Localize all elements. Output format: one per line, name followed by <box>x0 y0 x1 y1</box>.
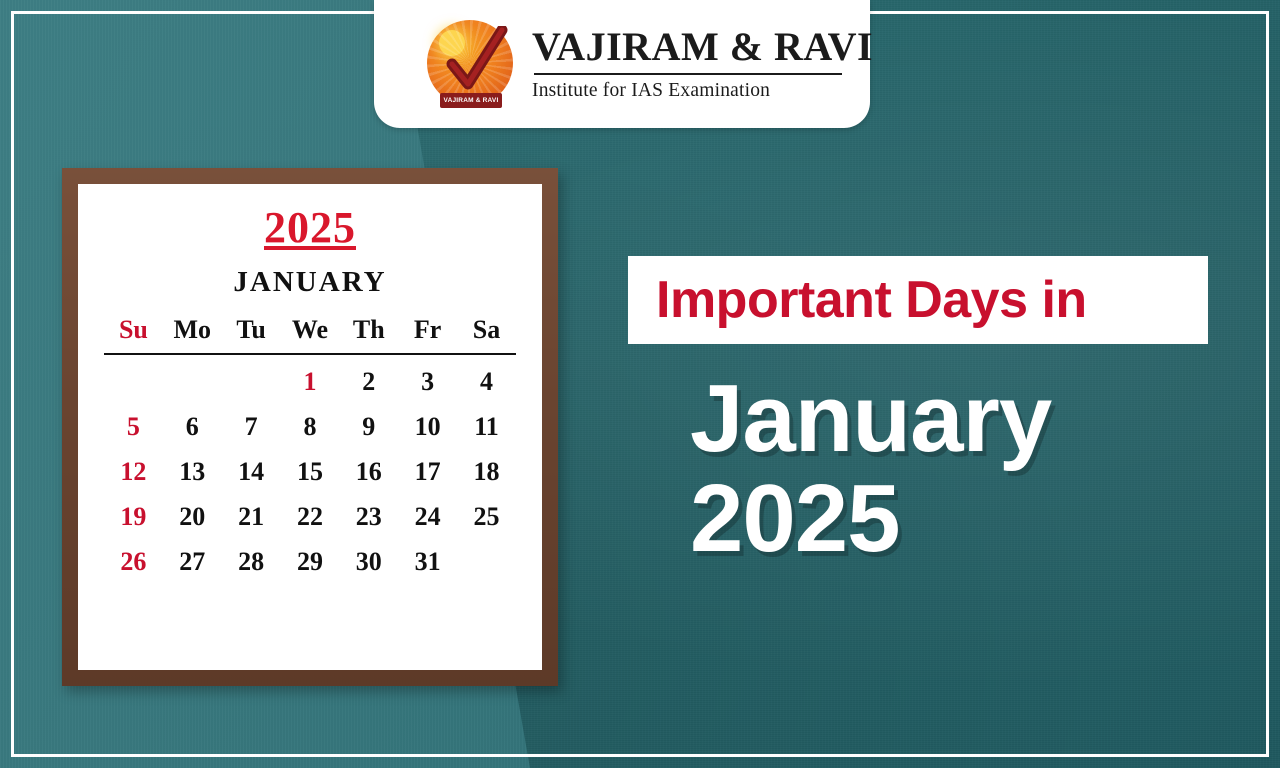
calendar-day-cell: 22 <box>281 494 340 539</box>
calendar-week-row: 5 6 7 8 9 10 11 <box>104 404 516 449</box>
calendar-day-cell: 19 <box>104 494 163 539</box>
logo-ribbon-label: VAJIRAM & RAVI <box>440 93 502 108</box>
headline-year: 2025 <box>690 472 1250 566</box>
calendar-day-cell: 17 <box>398 449 457 494</box>
calendar-header-sa: Sa <box>457 309 516 354</box>
calendar-week-row: 26 27 28 29 30 31 <box>104 539 516 584</box>
calendar-day-cell: 11 <box>457 404 516 449</box>
calendar-day-cell: 21 <box>222 494 281 539</box>
calendar-day-cell: 28 <box>222 539 281 584</box>
calendar-header-th: Th <box>339 309 398 354</box>
calendar-day-cell: 6 <box>163 404 222 449</box>
calendar-day-cell: 9 <box>339 404 398 449</box>
calendar-day-cell: 8 <box>281 404 340 449</box>
calendar-day-cell: 23 <box>339 494 398 539</box>
calendar-day-cell: 10 <box>398 404 457 449</box>
brand-tagline: Institute for IAS Examination <box>532 80 873 102</box>
calendar-day-cell: 14 <box>222 449 281 494</box>
headline-title-block: January 2025 <box>690 372 1250 566</box>
calendar-week-row: 12 13 14 15 16 17 18 <box>104 449 516 494</box>
calendar-day-cell: 13 <box>163 449 222 494</box>
calendar-day-cell: 27 <box>163 539 222 584</box>
calendar-day-cell <box>457 539 516 584</box>
calendar-day-cell: 30 <box>339 539 398 584</box>
calendar-header-fr: Fr <box>398 309 457 354</box>
calendar-day-cell: 15 <box>281 449 340 494</box>
calendar-day-cell: 5 <box>104 404 163 449</box>
calendar-day-cell: 1 <box>281 354 340 404</box>
calendar-header-su: Su <box>104 309 163 354</box>
calendar-day-cell: 18 <box>457 449 516 494</box>
calendar-day-cell: 7 <box>222 404 281 449</box>
calendar-grid: Su Mo Tu We Th Fr Sa 1 2 <box>104 309 516 584</box>
poster-canvas: VAJIRAM & RAVI VAJIRAM & RAVI Institute … <box>0 0 1280 768</box>
headline-month: January <box>690 372 1250 466</box>
headline-banner-text: Important Days in <box>656 270 1087 330</box>
brand-text-block: VAJIRAM & RAVI Institute for IAS Examina… <box>532 26 873 102</box>
calendar-day-cell <box>163 354 222 404</box>
calendar-day-cell: 20 <box>163 494 222 539</box>
calendar-header-we: We <box>281 309 340 354</box>
calendar-day-cell: 31 <box>398 539 457 584</box>
headline-banner: Important Days in <box>628 256 1208 344</box>
calendar-day-cell: 26 <box>104 539 163 584</box>
brand-divider <box>534 73 842 75</box>
calendar-week-row: 19 20 21 22 23 24 25 <box>104 494 516 539</box>
calendar-widget: 2025 JANUARY Su Mo Tu We Th Fr Sa <box>62 168 558 686</box>
calendar-day-cell: 25 <box>457 494 516 539</box>
calendar-header-mo: Mo <box>163 309 222 354</box>
brand-logo-card: VAJIRAM & RAVI VAJIRAM & RAVI Institute … <box>374 0 870 128</box>
calendar-day-cell: 29 <box>281 539 340 584</box>
calendar-header-tu: Tu <box>222 309 281 354</box>
calendar-day-cell: 24 <box>398 494 457 539</box>
calendar-week-row: 1 2 3 4 <box>104 354 516 404</box>
calendar-day-cell <box>222 354 281 404</box>
calendar-day-cell: 16 <box>339 449 398 494</box>
sun-checkmark-logo-icon: VAJIRAM & RAVI <box>424 18 520 110</box>
calendar-day-cell: 3 <box>398 354 457 404</box>
brand-name: VAJIRAM & RAVI <box>532 26 873 68</box>
calendar-inner-page: 2025 JANUARY Su Mo Tu We Th Fr Sa <box>78 184 542 670</box>
calendar-year: 2025 <box>104 206 516 250</box>
calendar-day-cell <box>104 354 163 404</box>
calendar-month: JANUARY <box>104 266 516 299</box>
calendar-day-cell: 4 <box>457 354 516 404</box>
calendar-day-cell: 2 <box>339 354 398 404</box>
calendar-day-cell: 12 <box>104 449 163 494</box>
calendar-header-row: Su Mo Tu We Th Fr Sa <box>104 309 516 354</box>
